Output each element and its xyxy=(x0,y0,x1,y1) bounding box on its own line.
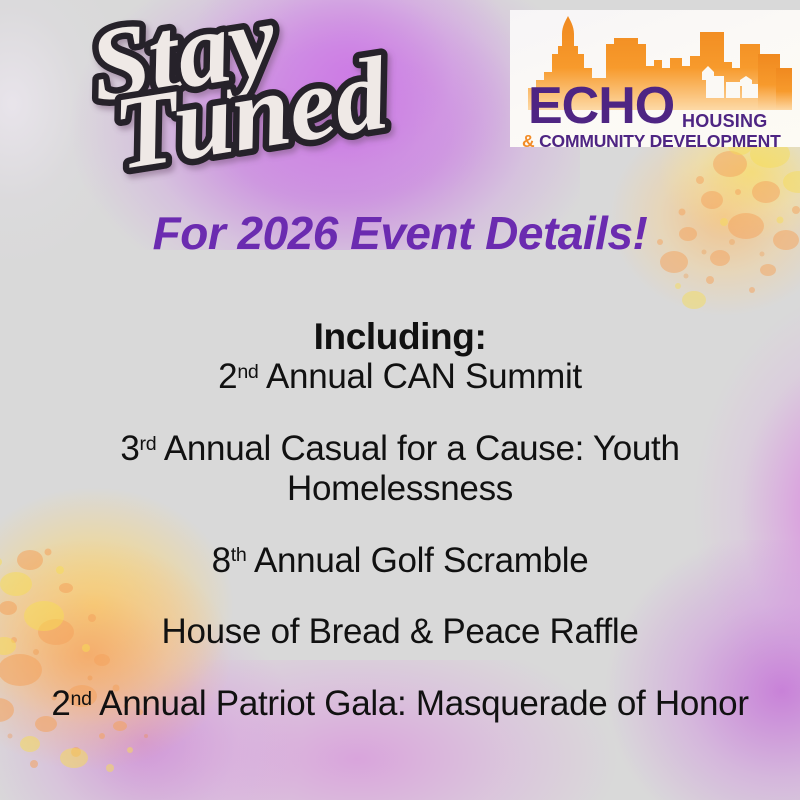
event-ordinal-suffix: th xyxy=(231,544,247,566)
echo-logo-card: ECHO HOUSING & COMMUNITY DEVELOPMENT xyxy=(510,10,800,147)
event-item-casual-for-a-cause-line2: Homelessness xyxy=(0,469,800,509)
event-item-house-of-bread-raffle: House of Bread & Peace Raffle xyxy=(0,612,800,652)
logo-cdev-label: COMMUNITY DEVELOPMENT xyxy=(534,131,780,147)
event-ordinal-suffix: nd xyxy=(237,361,258,383)
subheadline: For 2026 Event Details! xyxy=(0,206,800,260)
logo-echo-wordmark: ECHO xyxy=(528,80,674,132)
event-title: Annual Patriot Gala: Masquerade of Honor xyxy=(92,684,749,723)
event-ordinal-suffix: nd xyxy=(70,688,91,710)
event-ordinal: 2 xyxy=(218,357,237,396)
event-title: Annual Casual for a Cause: Youth xyxy=(156,429,679,468)
poster-canvas: ECHO HOUSING & COMMUNITY DEVELOPMENT Sta… xyxy=(0,0,800,800)
event-item-patriot-gala: 2nd Annual Patriot Gala: Masquerade of H… xyxy=(0,684,800,724)
event-title: Annual CAN Summit xyxy=(259,357,582,396)
spacer xyxy=(0,509,800,541)
logo-community-development-text: & COMMUNITY DEVELOPMENT xyxy=(522,131,781,147)
event-ordinal: 3 xyxy=(120,429,139,468)
event-list: Including: 2nd Annual CAN Summit 3rd Ann… xyxy=(0,318,800,724)
logo-ampersand: & xyxy=(522,131,534,147)
event-item-casual-for-a-cause: 3rd Annual Casual for a Cause: Youth xyxy=(0,429,800,469)
event-item-can-summit: 2nd Annual CAN Summit xyxy=(0,357,800,397)
logo-housing-text: HOUSING xyxy=(682,111,767,132)
stay-tuned-script-headline: Stay Tuned xyxy=(78,14,398,204)
including-label: Including: xyxy=(0,318,800,357)
spacer xyxy=(0,397,800,429)
event-item-golf-scramble: 8th Annual Golf Scramble xyxy=(0,541,800,581)
event-ordinal: 8 xyxy=(212,541,231,580)
spacer xyxy=(0,580,800,612)
spacer xyxy=(0,652,800,684)
event-title: Annual Golf Scramble xyxy=(246,541,588,580)
event-ordinal-suffix: rd xyxy=(140,433,157,455)
event-ordinal: 2 xyxy=(51,684,70,723)
